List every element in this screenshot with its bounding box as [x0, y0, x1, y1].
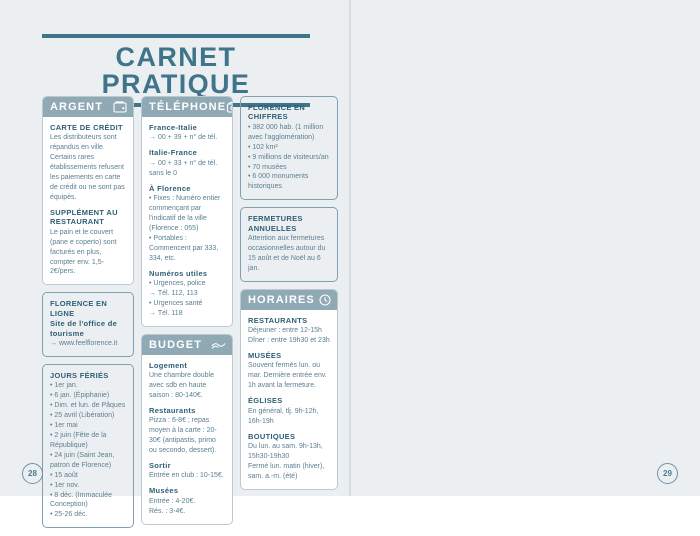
list-item: • 8 déc. (Immaculée Conception) — [50, 491, 126, 511]
list-item: • 102 km² — [248, 143, 330, 153]
telephone-header-label: TÉLÉPHONE — [149, 101, 226, 113]
budget-text-4: Entrée : 4-20€. — [149, 497, 225, 507]
budget-sub-2: Restaurants — [149, 406, 225, 415]
argent-body: CARTE DE CRÉDIT Les distributeurs sont r… — [43, 117, 133, 284]
clock-icon — [319, 294, 331, 306]
budget-sub-1: Logement — [149, 361, 225, 370]
argent-header: ARGENT — [43, 97, 133, 117]
budget-text-3: Entrée en club : 10-15€. — [149, 471, 225, 481]
florence-en-ligne-title: FLORENCE EN LIGNE — [50, 299, 126, 318]
budget-sub-3: Sortir — [149, 461, 225, 470]
argent-text-2: Le pain et le couvert (pane e coperto) s… — [50, 228, 126, 278]
list-item: • 24 juin (Saint Jean, patron de Florenc… — [50, 451, 126, 471]
tel-sub-1: France-Italie — [149, 123, 225, 132]
list-item: • 1er nov. — [50, 481, 126, 491]
argent-sub-2: SUPPLÉMENT AU RESTAURANT — [50, 208, 126, 227]
list-item: • 2 juin (Fête de la République) — [50, 431, 126, 451]
argent-sub-1: CARTE DE CRÉDIT — [50, 123, 126, 132]
chiffres-list: • 382 000 hab. (1 million avec l'agglomé… — [248, 123, 330, 193]
horaires-header-label: HORAIRES — [248, 294, 315, 306]
argent-box: ARGENT CARTE DE CRÉDIT Les distributeurs… — [42, 96, 134, 285]
tel-bullet-1: • Fixes : Numéro entier commençant par l… — [149, 194, 225, 234]
tel-line-1: → 00 + 39 + n° de tél. — [149, 133, 225, 143]
chiffres-box: FLORENCE EN CHIFFRES • 382 000 hab. (1 m… — [240, 96, 338, 200]
horaires-text-1b: Dîner : entre 19h30 et 23h — [248, 336, 330, 346]
telephone-box: TÉLÉPHONE France-Italie → 00 + 39 + n° d… — [141, 96, 233, 327]
horaires-text-4: Du lun. au sam. 9h-13h, 15h30-19h30 — [248, 442, 330, 462]
list-item: • 25-26 déc. — [50, 510, 126, 520]
list-item: • 1er mai — [50, 421, 126, 431]
horaires-sub-2: MUSÉES — [248, 351, 330, 360]
horaires-body: RESTAURANTS Déjeuner : entre 12-15h Dîne… — [241, 310, 337, 489]
tel-sub-2: Italie-France — [149, 148, 225, 157]
horaires-sub-3: ÉGLISES — [248, 396, 330, 405]
column-horaires: FLORENCE EN CHIFFRES • 382 000 hab. (1 m… — [240, 96, 338, 528]
tel-bullet-4: • Urgences santé — [149, 299, 225, 309]
telephone-body: France-Italie → 00 + 39 + n° de tél. Ita… — [142, 117, 232, 326]
page-title: CARNET PRATIQUE — [42, 38, 310, 103]
tel-line-2: → 00 + 33 + n° de tél. sans le 0 — [149, 159, 225, 179]
horaires-header: HORAIRES — [241, 290, 337, 310]
budget-body: Logement Une chambre double avec sdb en … — [142, 355, 232, 524]
budget-header-label: BUDGET — [149, 339, 202, 351]
list-item: • 6 000 monuments historiques — [248, 172, 330, 192]
page-number-left: 28 — [22, 463, 43, 484]
left-columns: ARGENT CARTE DE CRÉDIT Les distributeurs… — [42, 96, 338, 528]
left-page: CARNET PRATIQUE ARGENT CARTE — [0, 0, 350, 496]
tel-bullet-2: • Portables : Commencent par 333, 334, e… — [149, 234, 225, 264]
chiffres-title: FLORENCE EN CHIFFRES — [248, 103, 330, 122]
tel-sub-3: À Florence — [149, 184, 225, 193]
horaires-text-4b: Fermé lun. matin (hiver), sam. a.-m. (ét… — [248, 462, 330, 482]
list-item: • 70 musées — [248, 163, 330, 173]
page-number-right: 29 — [657, 463, 678, 484]
fermetures-box: FERMETURES ANNUELLES Attention aux ferme… — [240, 207, 338, 282]
jours-feries-title: JOURS FÉRIÉS — [50, 371, 126, 380]
telephone-header: TÉLÉPHONE — [142, 97, 232, 117]
argent-text-1: Les distributeurs sont répandus en ville… — [50, 133, 126, 203]
fermetures-text: Attention aux fermetures occasionnelles … — [248, 234, 330, 274]
wallet-icon — [113, 101, 127, 113]
florence-en-ligne-sub: Site de l'office de tourisme — [50, 319, 126, 338]
horaires-sub-1: RESTAURANTS — [248, 316, 330, 325]
budget-text-4b: Rés. : 3-4€. — [149, 507, 225, 517]
fermetures-title: FERMETURES ANNUELLES — [248, 214, 330, 233]
budget-text-1: Une chambre double avec sdb en haute sai… — [149, 371, 225, 401]
list-item: • Dim. et lun. de Pâques — [50, 401, 126, 411]
florence-en-ligne-box: FLORENCE EN LIGNE Site de l'office de to… — [42, 292, 134, 356]
horaires-text-1: Déjeuner : entre 12-15h — [248, 326, 330, 336]
list-item: • 15 août — [50, 471, 126, 481]
page-gutter — [349, 0, 351, 496]
budget-header: BUDGET — [142, 335, 232, 355]
money-icon — [211, 339, 226, 350]
budget-sub-4: Musées — [149, 486, 225, 495]
tel-bullet-4b: → Tél. 118 — [149, 309, 225, 319]
argent-header-label: ARGENT — [50, 101, 103, 113]
jours-feries-box: JOURS FÉRIÉS • 1er jan. • 6 jan. (Épipha… — [42, 364, 134, 529]
horaires-box: HORAIRES RESTAURANTS Déjeuner : entre 12… — [240, 289, 338, 490]
horaires-text-3: En général, tlj. 9h-12h, 16h-19h — [248, 407, 330, 427]
right-page: MÉTÉO (en °C) — [350, 0, 700, 496]
budget-text-2: Pizza : 6-8€ ; repas moyen à la carte : … — [149, 416, 225, 456]
florence-en-ligne-link[interactable]: → www.feelflorence.it — [50, 339, 126, 349]
list-item: • 382 000 hab. (1 million avec l'agglomé… — [248, 123, 330, 143]
tel-bullet-3b: → Tél. 112, 113 — [149, 289, 225, 299]
list-item: • 6 jan. (Épiphanie) — [50, 391, 126, 401]
column-telephone: TÉLÉPHONE France-Italie → 00 + 39 + n° d… — [141, 96, 233, 528]
horaires-sub-4: BOUTIQUES — [248, 432, 330, 441]
list-item: • 25 avril (Libération) — [50, 411, 126, 421]
telephone-icon — [226, 101, 233, 113]
horaires-text-2: Souvent fermés lun. ou mar. Dernière ent… — [248, 361, 330, 391]
list-item: • 1er jan. — [50, 381, 126, 391]
tel-sub-4: Numéros utiles — [149, 269, 225, 278]
column-argent: ARGENT CARTE DE CRÉDIT Les distributeurs… — [42, 96, 134, 528]
tel-bullet-3: • Urgences, police — [149, 279, 225, 289]
list-item: • 9 millions de visiteurs/an — [248, 153, 330, 163]
jours-feries-list: • 1er jan. • 6 jan. (Épiphanie) • Dim. e… — [50, 381, 126, 520]
guidebook-spread: CARNET PRATIQUE ARGENT CARTE — [0, 0, 700, 496]
